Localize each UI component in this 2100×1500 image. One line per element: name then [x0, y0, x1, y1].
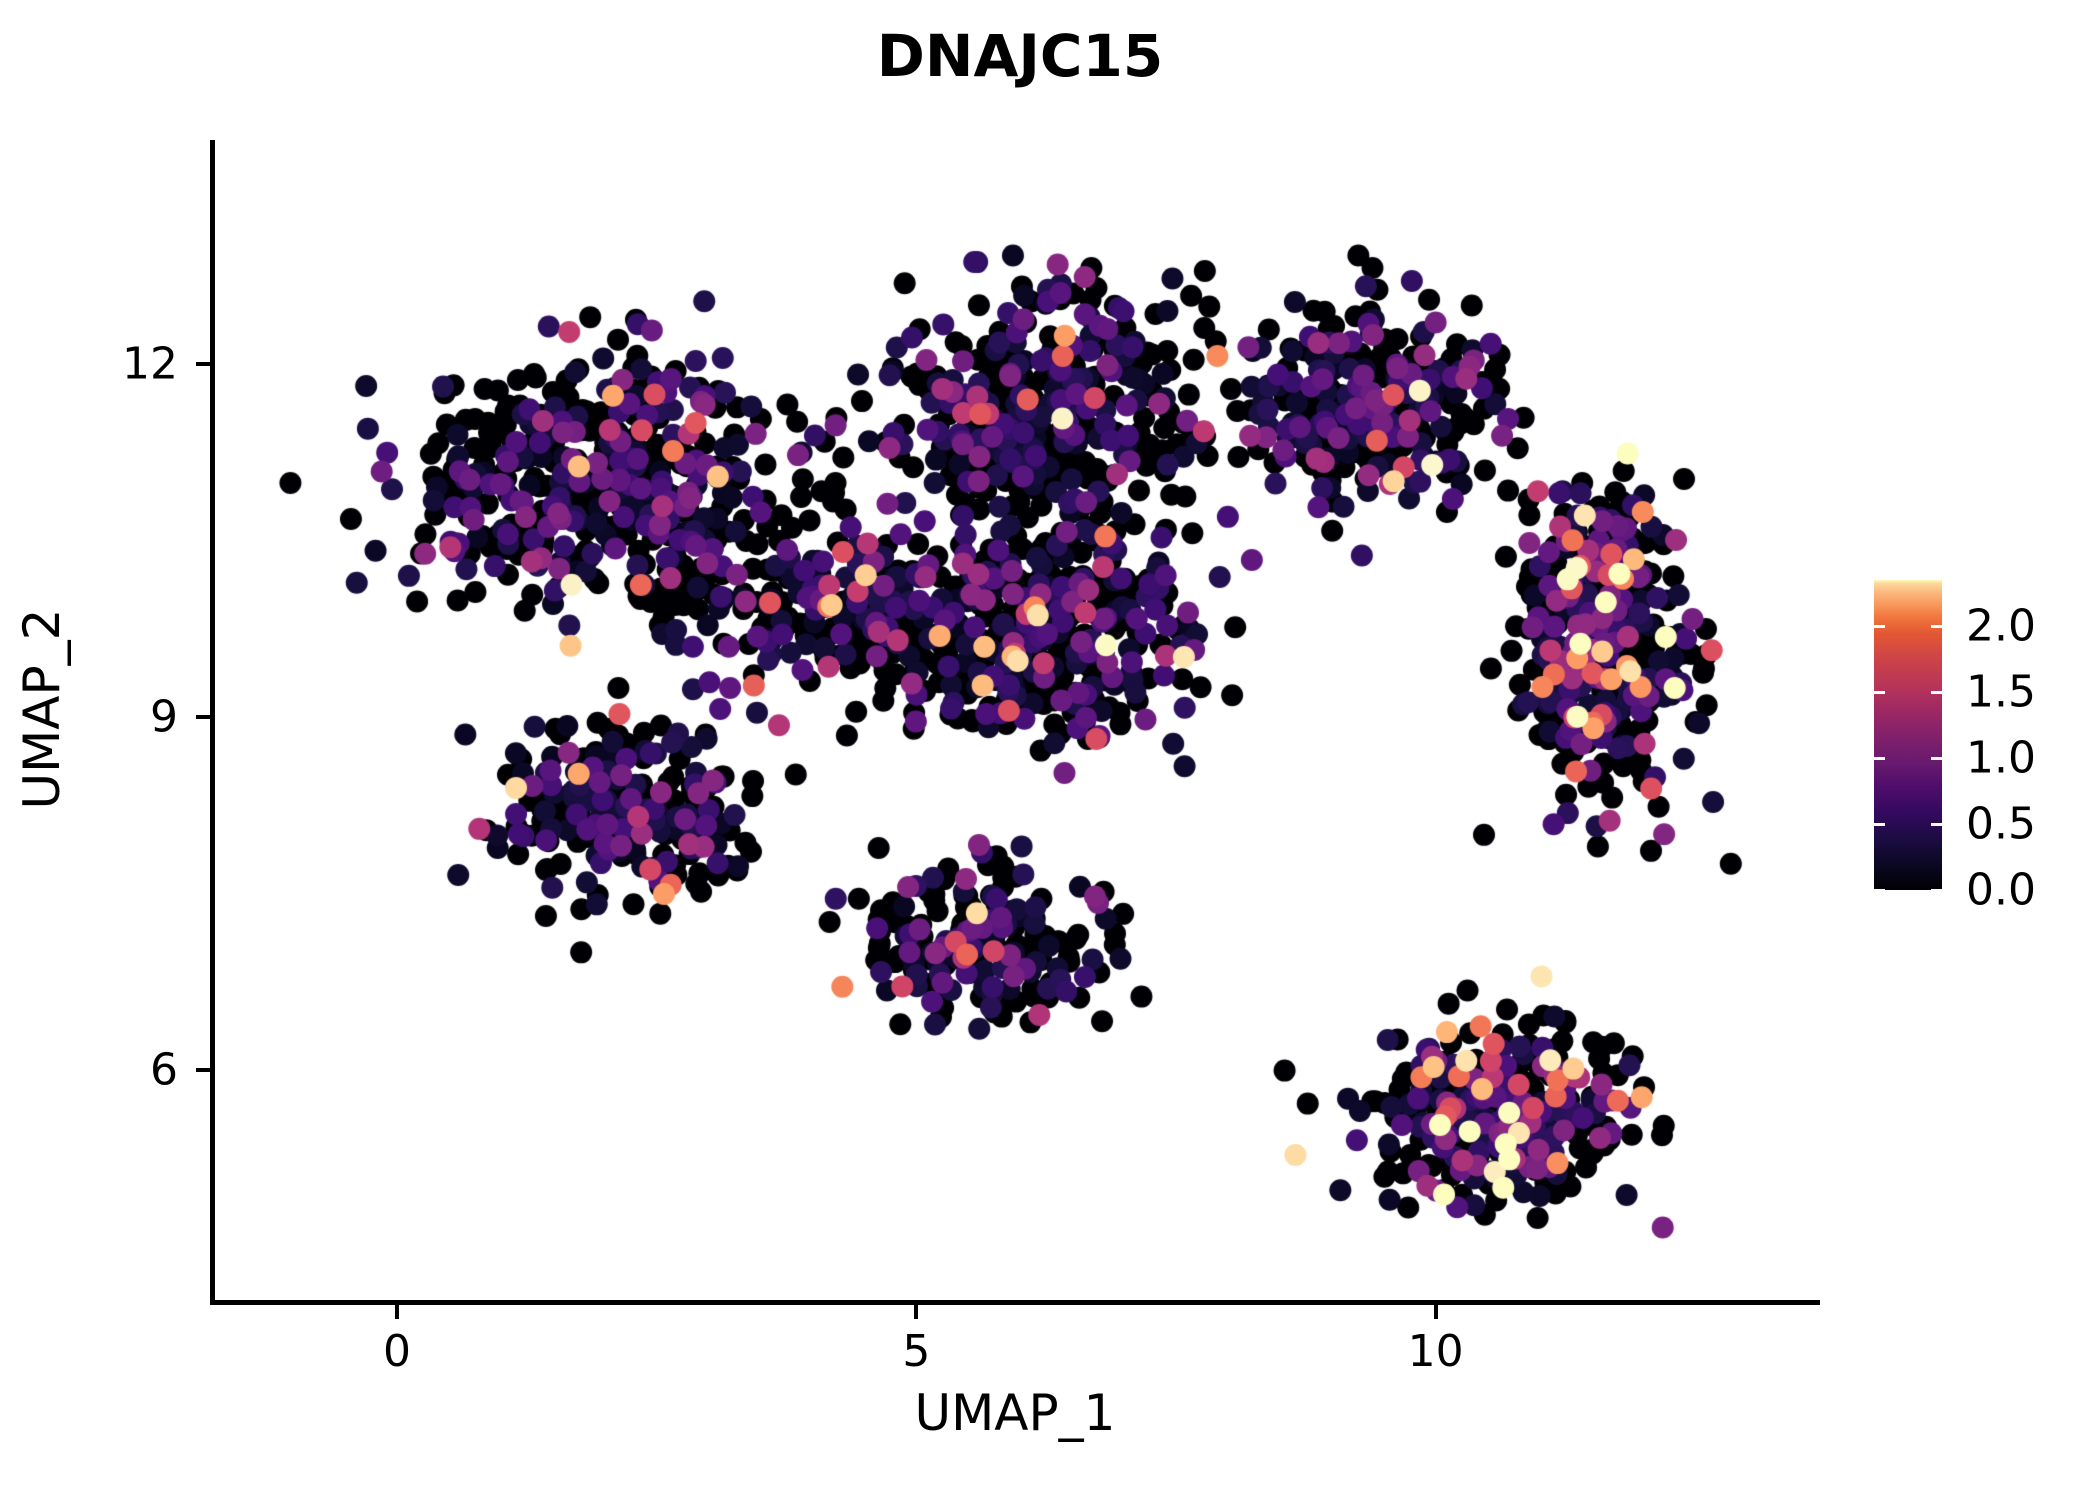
colorbar-tick-mark [1931, 691, 1942, 694]
x-tick-mark [395, 1305, 399, 1319]
colorbar-tick-label: 2.0 [1966, 601, 2036, 652]
colorbar-tick-mark [1874, 691, 1885, 694]
colorbar-tick-mark [1931, 823, 1942, 826]
colorbar-tick-label: 1.5 [1966, 667, 2036, 718]
colorbar-tick-label: 0.0 [1966, 865, 2036, 916]
umap-feature-plot: DNAJC15 0510 6912 UMAP_1 UMAP_2 0.00.51.… [0, 0, 2100, 1500]
page-title: DNAJC15 [0, 22, 2040, 90]
y-axis-spine [210, 140, 215, 1305]
colorbar-tick-mark [1931, 757, 1942, 760]
scatter-plot-area [210, 140, 1820, 1305]
colorbar-tick-mark [1874, 889, 1885, 892]
x-tick-mark [1434, 1305, 1438, 1319]
y-tick-label: 6 [150, 1044, 178, 1095]
colorbar-tick-mark [1931, 889, 1942, 892]
plot-axes: 0510 6912 [210, 140, 1820, 1305]
scatter-points-layer [210, 140, 1820, 1305]
y-tick-mark [196, 362, 210, 366]
y-tick-mark [196, 715, 210, 719]
colorbar-tick-mark [1874, 625, 1885, 628]
colorbar-tick-mark [1874, 823, 1885, 826]
colorbar-tick-label: 1.0 [1966, 733, 2036, 784]
y-tick-label: 12 [122, 338, 178, 389]
x-tick-label: 5 [902, 1326, 930, 1377]
y-axis-label: UMAP_2 [13, 489, 71, 929]
colorbar-tick-mark [1931, 625, 1942, 628]
x-tick-mark [914, 1305, 918, 1319]
x-tick-label: 0 [383, 1326, 411, 1377]
x-axis-spine [210, 1300, 1820, 1305]
colorbar: 0.00.51.01.52.0 [1874, 580, 2074, 890]
y-tick-label: 9 [150, 691, 178, 742]
x-tick-label: 10 [1408, 1326, 1464, 1377]
colorbar-tick-mark [1874, 757, 1885, 760]
y-tick-mark [196, 1068, 210, 1072]
x-axis-label: UMAP_1 [210, 1384, 1820, 1442]
colorbar-tick-label: 0.5 [1966, 799, 2036, 850]
